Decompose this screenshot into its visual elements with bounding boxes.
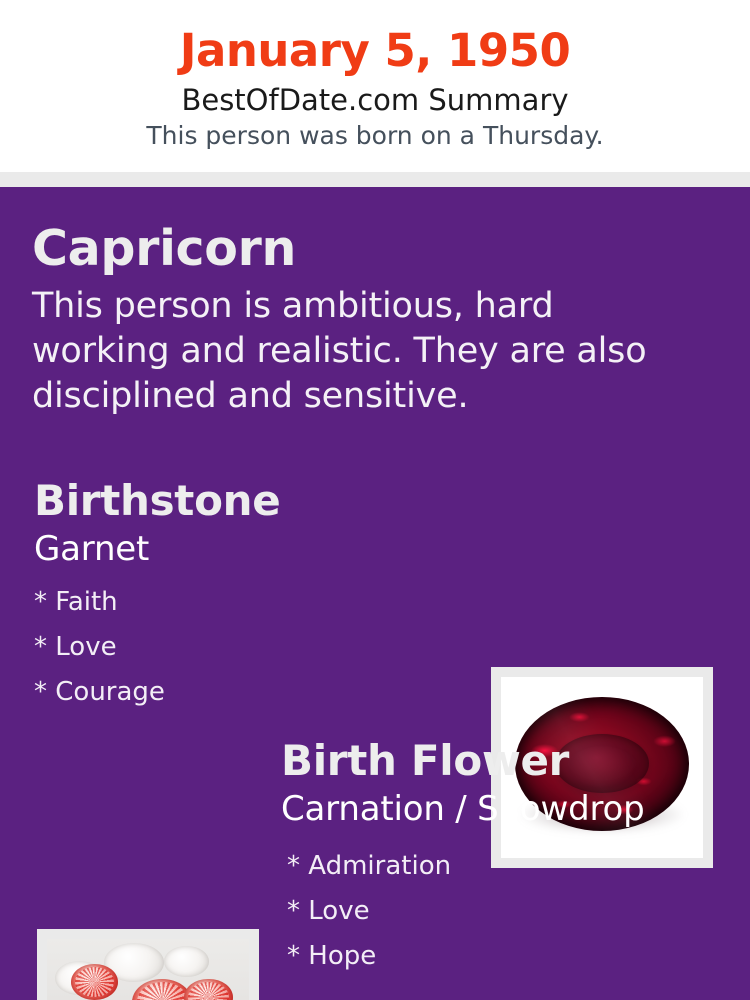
list-item: * Love (287, 889, 741, 934)
red-carnation (184, 979, 232, 1000)
birthflower-name: Carnation / Snowdrop (281, 787, 741, 830)
white-carnation (164, 946, 208, 977)
birth-day-note: This person was born on a Thursday. (0, 118, 750, 152)
list-item: * Admiration (287, 844, 741, 889)
birthflower-image (47, 939, 249, 1000)
red-carnation (71, 964, 117, 1000)
header-divider (0, 172, 750, 187)
birthstone-name: Garnet (34, 527, 464, 570)
birthstone-section: Birthstone Garnet * Faith * Love * Coura… (34, 475, 464, 715)
list-item: * Love (34, 625, 464, 670)
list-item: * Hope (287, 934, 741, 979)
list-item: * Courage (34, 670, 464, 715)
list-item: * Faith (34, 580, 464, 625)
birthstone-trait-list: * Faith * Love * Courage (34, 570, 464, 715)
zodiac-description: This person is ambitious, hard working a… (32, 278, 647, 419)
red-carnation (132, 979, 193, 1000)
birthflower-image-frame (37, 929, 259, 1000)
summary-page: January 5, 1950 BestOfDate.com Summary T… (0, 0, 750, 1000)
zodiac-sign-name: Capricorn (32, 220, 692, 278)
page-header: January 5, 1950 BestOfDate.com Summary T… (0, 0, 750, 172)
birthflower-trait-list: * Admiration * Love * Hope (281, 830, 741, 979)
site-summary-label: BestOfDate.com Summary (0, 80, 750, 118)
birthflower-heading: Birth Flower (281, 735, 741, 787)
birthflower-section: Birth Flower Carnation / Snowdrop * Admi… (281, 735, 741, 979)
flower-bouquet-graphic (47, 939, 249, 1000)
zodiac-section: Capricorn This person is ambitious, hard… (32, 220, 692, 419)
page-title-date: January 5, 1950 (0, 0, 750, 80)
birthstone-heading: Birthstone (34, 475, 464, 527)
summary-body: Capricorn This person is ambitious, hard… (0, 187, 750, 1000)
